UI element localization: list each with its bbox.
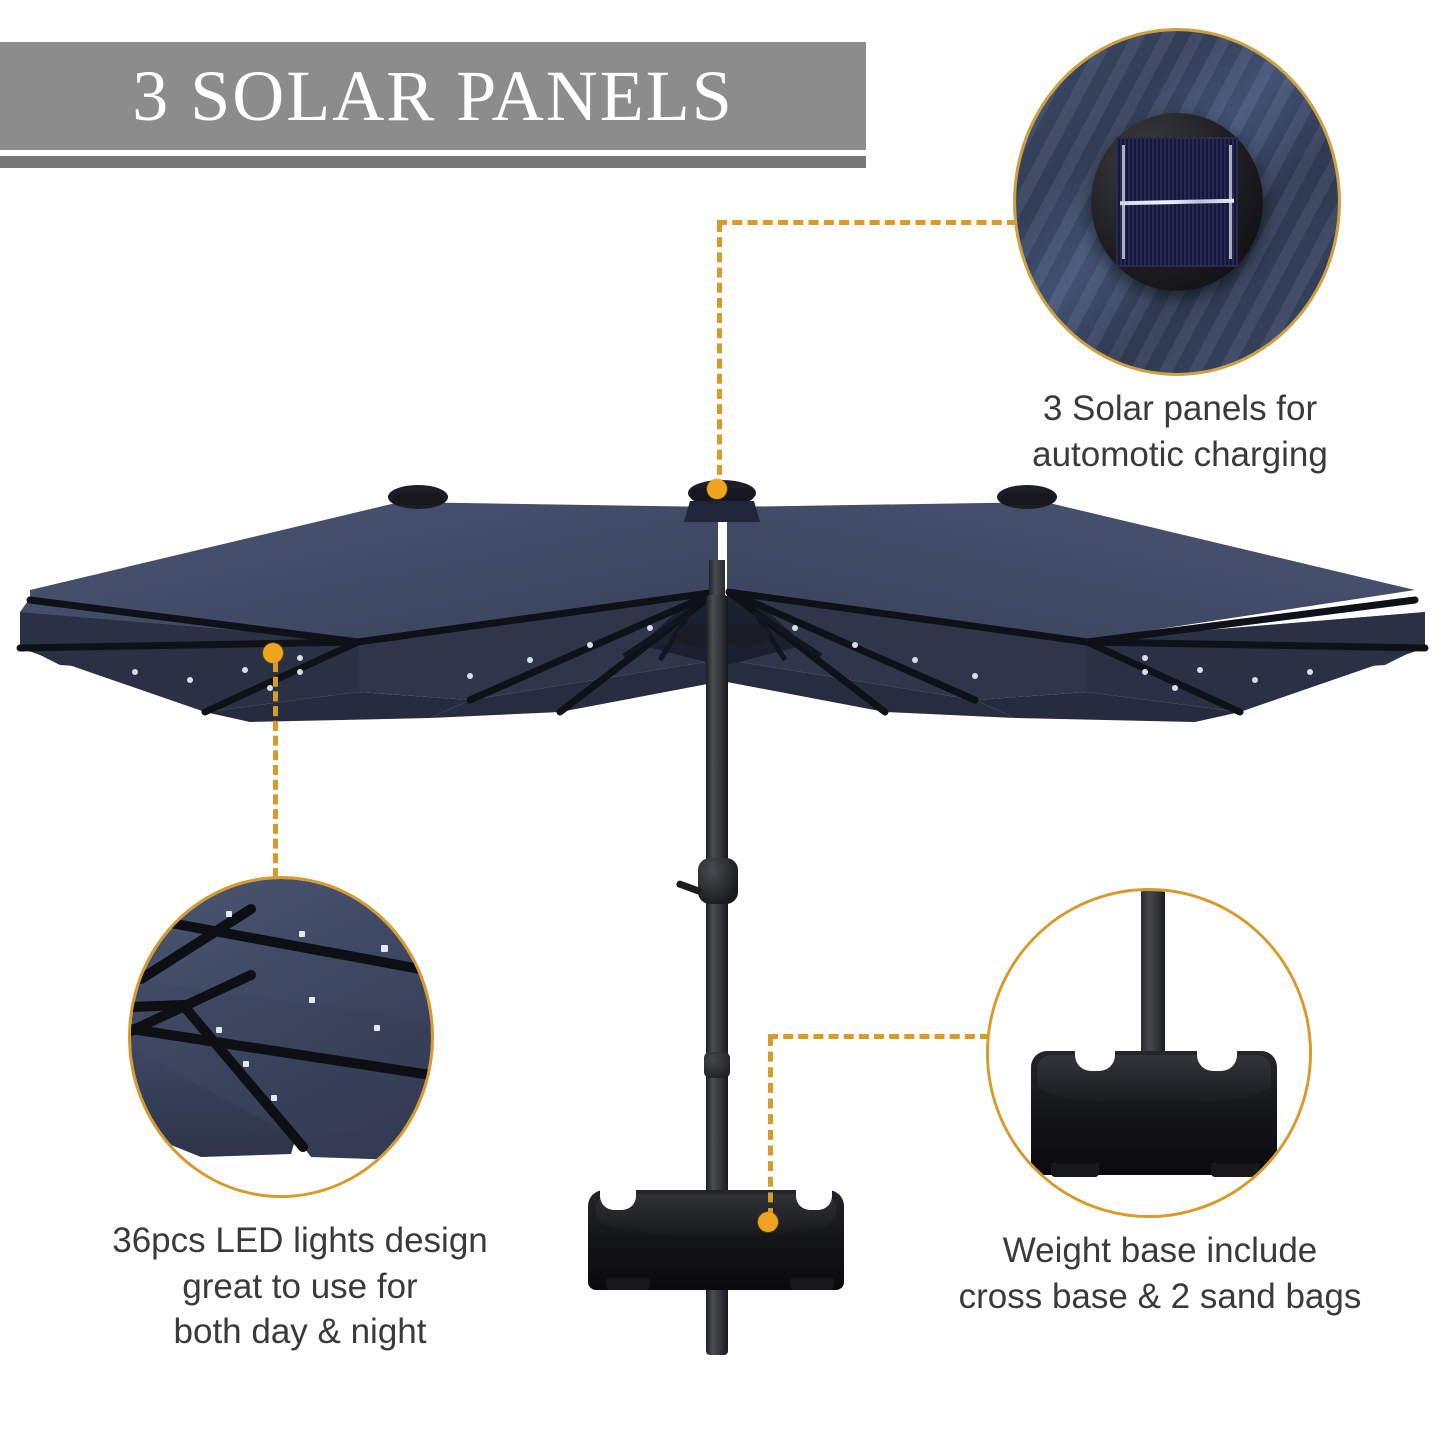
header-banner: 3 SOLAR PANELS <box>0 42 866 150</box>
connector-base-vertical <box>768 1036 773 1218</box>
canopy-left <box>20 485 724 722</box>
callout-dot-solar[interactable] <box>707 479 727 499</box>
caption-led-line-3: both day & night <box>50 1309 550 1355</box>
crank-housing <box>698 858 738 904</box>
base-closeup-foot-left <box>1051 1163 1099 1177</box>
connector-solar-vertical <box>717 222 722 490</box>
base-closeup-foot-right <box>1211 1163 1259 1177</box>
caption-solar-line-2: automotic charging <box>970 432 1390 478</box>
caption-led-line-2: great to use for <box>50 1264 550 1310</box>
base-foot-left <box>606 1278 650 1290</box>
base-closeup-sandbag <box>1031 1051 1277 1175</box>
base-closeup-notch-left <box>1075 1047 1115 1071</box>
caption-base-line-1: Weight base include <box>920 1228 1400 1274</box>
base-notch-right <box>796 1188 832 1210</box>
callout-dot-led[interactable] <box>263 643 283 663</box>
base-closeup-canvas <box>989 891 1309 1215</box>
header-underline-bar <box>0 156 866 168</box>
base-notch-left <box>600 1188 636 1210</box>
base-closeup-notch-right <box>1197 1047 1237 1071</box>
led-closeup-graphic <box>131 879 431 1195</box>
canopy-right <box>721 485 1425 722</box>
connector-solar-horizontal <box>717 220 1017 225</box>
caption-solar: 3 Solar panels for automotic charging <box>970 386 1390 477</box>
connector-led-vertical <box>273 662 278 878</box>
caption-base-line-2: cross base & 2 sand bags <box>920 1274 1400 1320</box>
callout-circle-base[interactable] <box>986 888 1312 1218</box>
caption-solar-line-1: 3 Solar panels for <box>970 386 1390 432</box>
callout-circle-solar[interactable] <box>1013 28 1341 376</box>
callout-dot-base[interactable] <box>758 1212 778 1232</box>
solar-housing <box>1091 113 1263 291</box>
pole-height-adjuster <box>704 1052 730 1078</box>
callout-circle-led[interactable] <box>128 876 434 1198</box>
caption-led-line-1: 36pcs LED lights design <box>50 1218 550 1264</box>
solar-panel-cell <box>1116 137 1238 267</box>
caption-base: Weight base include cross base & 2 sand … <box>920 1228 1400 1319</box>
solar-busbar <box>1120 199 1234 205</box>
connector-base-horizontal <box>768 1034 990 1039</box>
base-foot-right <box>790 1278 834 1290</box>
page-title: 3 SOLAR PANELS <box>0 42 866 150</box>
caption-led: 36pcs LED lights design great to use for… <box>50 1218 550 1355</box>
infographic-canvas: 3 SOLAR PANELS <box>0 0 1445 1445</box>
